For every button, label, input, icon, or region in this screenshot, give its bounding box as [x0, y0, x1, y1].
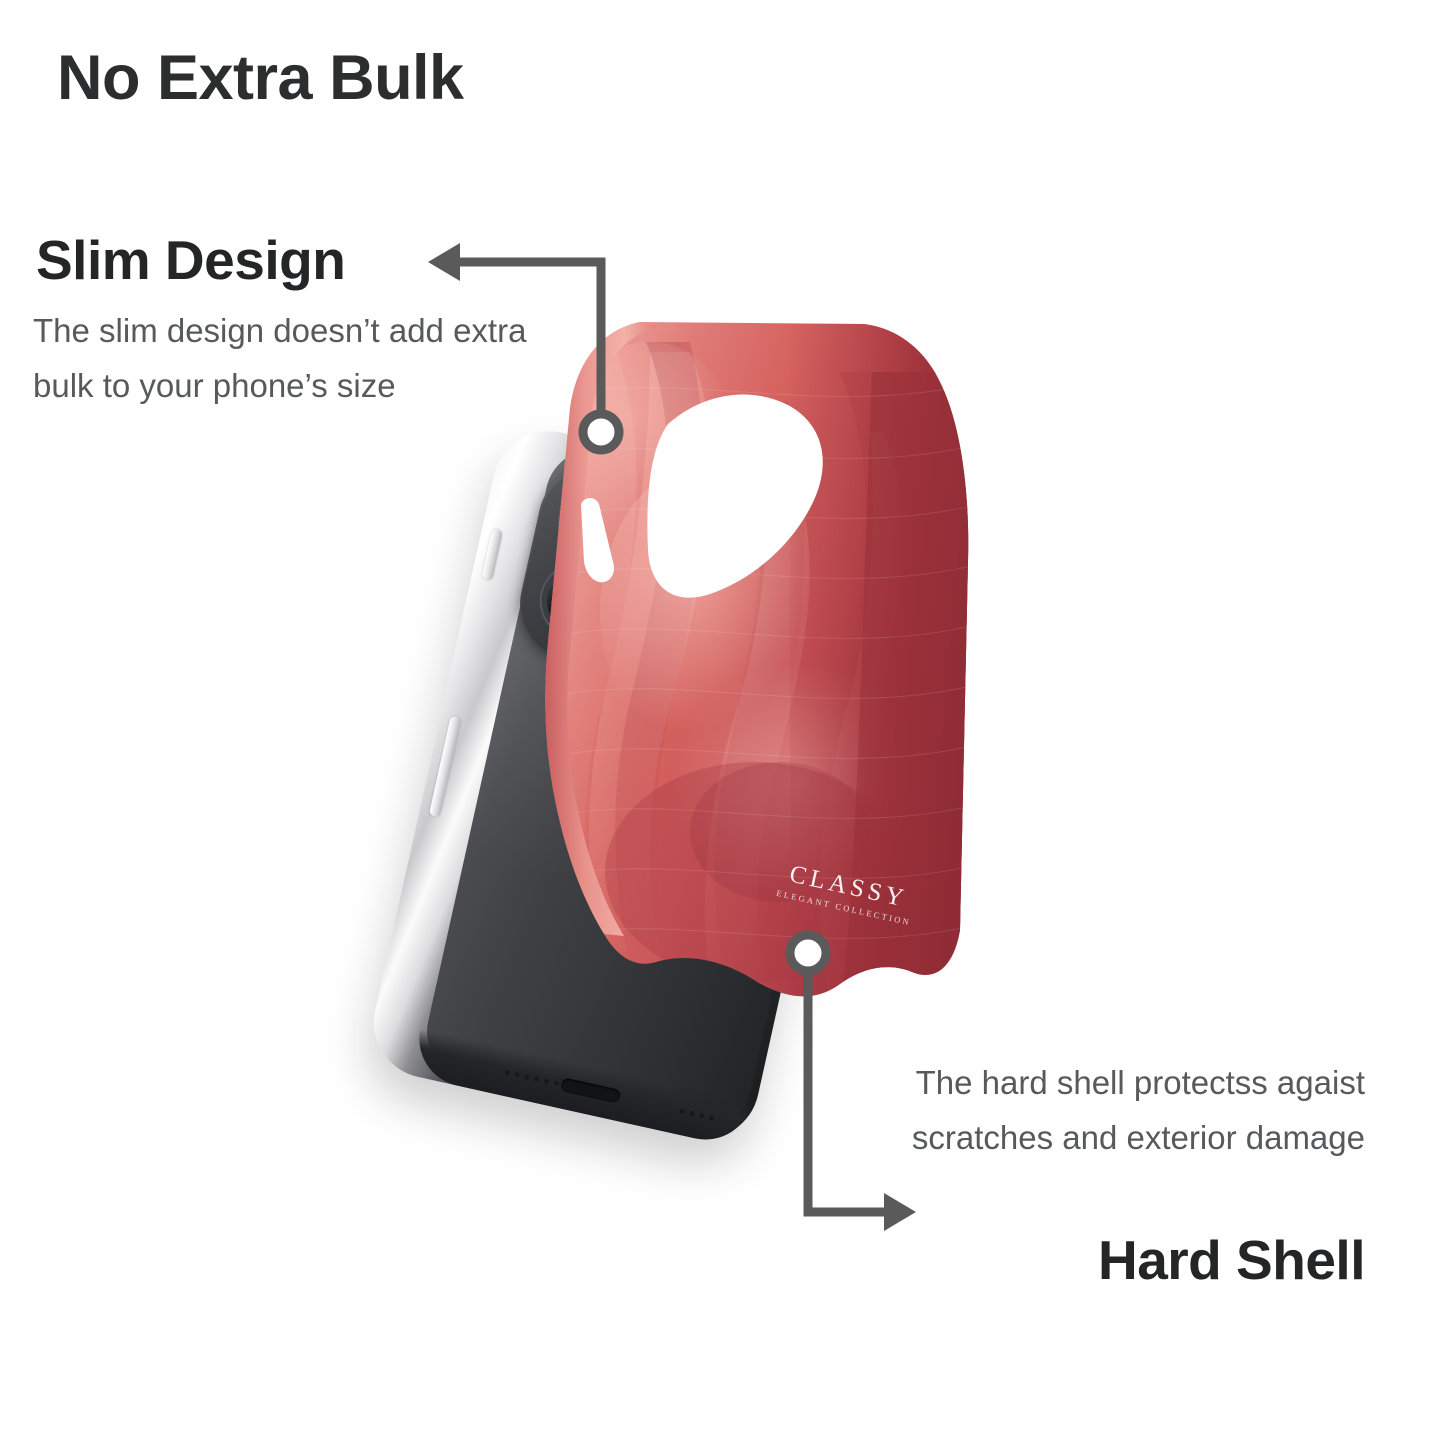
feature-body-hard-shell: The hard shell protectss agaist scratche…	[805, 1055, 1365, 1165]
case-artwork	[540, 312, 970, 1012]
feature-heading-slim-design: Slim Design	[36, 228, 345, 292]
speaker-grille-right	[679, 1108, 714, 1120]
page-title: No Extra Bulk	[57, 42, 464, 114]
feature-body-slim-design: The slim design doesn’t add extra bulk t…	[33, 303, 593, 413]
infographic-canvas: CLASSY ELEGANT COLLECTION No Extra Bulk …	[0, 0, 1445, 1445]
phone-case: CLASSY ELEGANT COLLECTION	[540, 312, 970, 1012]
feature-heading-hard-shell: Hard Shell	[1098, 1228, 1365, 1292]
speaker-grille-left	[504, 1070, 559, 1087]
charging-port	[560, 1077, 622, 1104]
